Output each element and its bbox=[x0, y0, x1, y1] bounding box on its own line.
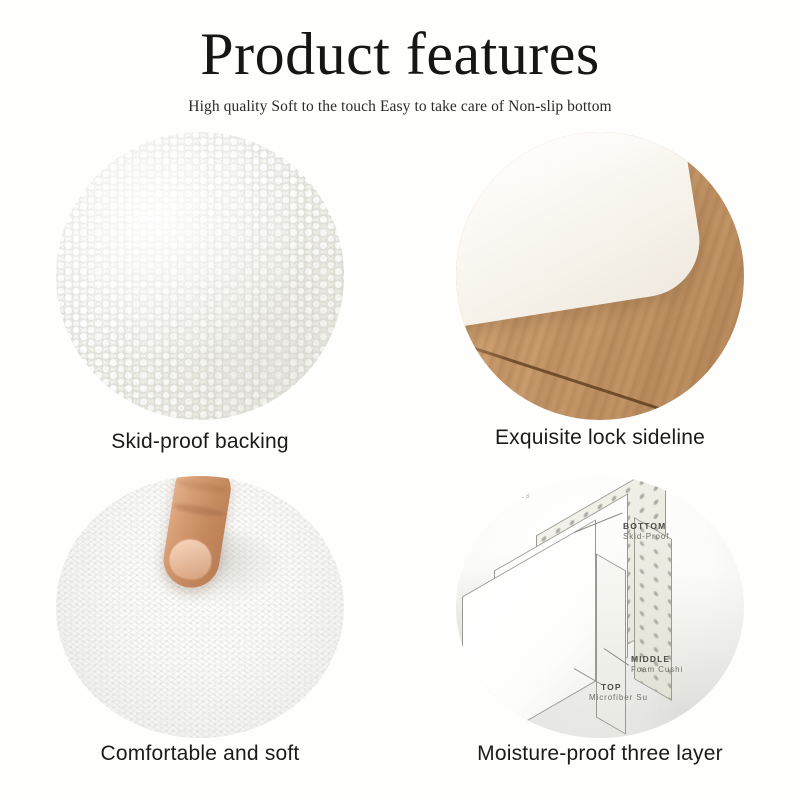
layer-label-top-position: TOP bbox=[601, 682, 622, 692]
feature-label-comfortable-and-soft: Comfortable and soft bbox=[101, 742, 300, 766]
layer-label-bottom-material: Skid-Proof bbox=[623, 532, 669, 541]
diagram-watermark: products bbox=[484, 490, 531, 500]
layer-label-middle-material: Foam Cushi bbox=[631, 665, 683, 674]
feature-label-skid-proof-backing: Skid-proof backing bbox=[111, 430, 289, 454]
feature-cell-exquisite-lock-sideline: Exquisite lock sideline bbox=[400, 132, 800, 454]
layer-label-bottom-position: BOTTOM bbox=[623, 521, 666, 531]
photo-shading bbox=[56, 132, 344, 420]
finger-knuckle-crease bbox=[173, 502, 226, 518]
feature-image-wrap-comfortable-and-soft bbox=[56, 476, 344, 738]
comfortable-and-soft-photo bbox=[56, 476, 344, 738]
layer-label-top-material: Microfiber Su bbox=[589, 693, 648, 702]
feature-row-2: Comfortable and soft bbox=[0, 476, 800, 766]
exquisite-lock-sideline-photo bbox=[456, 132, 744, 420]
three-layer-exploded-diagram: products BOTTOM Skid-Proof MIDDLE Foam C… bbox=[456, 476, 744, 738]
feature-label-exquisite-lock-sideline: Exquisite lock sideline bbox=[495, 426, 705, 450]
feature-image-wrap-exquisite-lock-sideline bbox=[456, 132, 744, 420]
feature-row-1: Skid-proof backing Exquisite lock s bbox=[0, 132, 800, 454]
moisture-proof-three-layer-photo: products BOTTOM Skid-Proof MIDDLE Foam C… bbox=[456, 476, 744, 738]
page-title: Product features bbox=[0, 0, 800, 84]
feature-cell-moisture-proof-three-layer: products BOTTOM Skid-Proof MIDDLE Foam C… bbox=[400, 476, 800, 766]
wood-plank-seam bbox=[456, 328, 744, 420]
wood-plank-seam-secondary bbox=[456, 387, 744, 420]
skid-proof-backing-photo bbox=[56, 132, 344, 420]
feature-cell-skid-proof-backing: Skid-proof backing bbox=[0, 132, 400, 454]
finger-knuckle-crease-upper bbox=[177, 478, 230, 494]
layer-label-middle-position: MIDDLE bbox=[631, 654, 670, 664]
feature-cell-comfortable-and-soft: Comfortable and soft bbox=[0, 476, 400, 766]
feature-label-moisture-proof-three-layer: Moisture-proof three layer bbox=[477, 742, 723, 766]
fingertip-highlight bbox=[167, 536, 215, 582]
product-features-page: Product features High quality Soft to th… bbox=[0, 0, 800, 800]
feature-image-wrap-skid-proof-backing bbox=[56, 132, 344, 420]
header: Product features High quality Soft to th… bbox=[0, 0, 800, 116]
feature-grid: Skid-proof backing Exquisite lock s bbox=[0, 132, 800, 766]
layer-sheet-middle-edge bbox=[596, 553, 626, 734]
feature-image-wrap-moisture-proof-three-layer: products BOTTOM Skid-Proof MIDDLE Foam C… bbox=[456, 476, 744, 738]
page-subtitle: High quality Soft to the touch Easy to t… bbox=[0, 84, 800, 116]
